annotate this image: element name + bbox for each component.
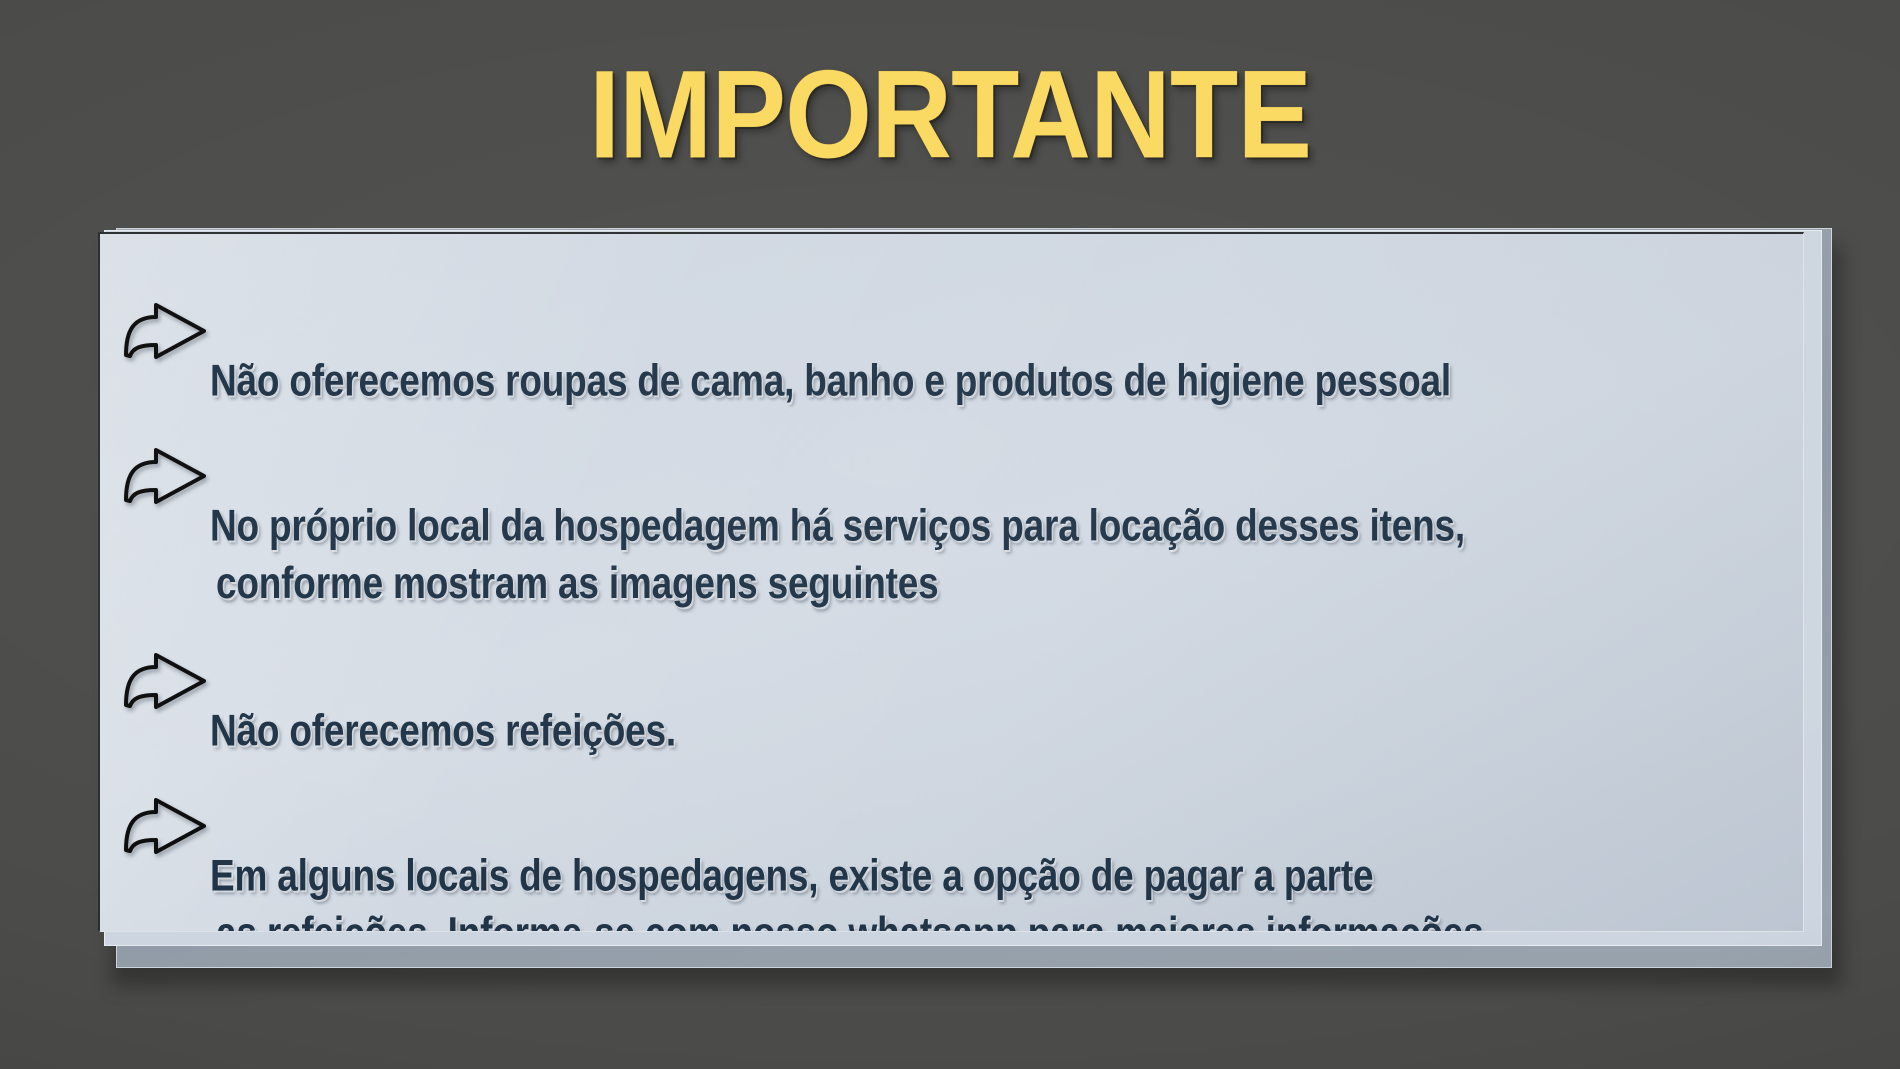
list-item-text: Não oferecemos refeições. (210, 646, 1793, 760)
right-block-arrow-icon (122, 300, 208, 362)
content-panel-stack: Não oferecemos roupas de cama, banho e p… (98, 232, 1828, 972)
list-item: Não oferecemos roupas de cama, banho e p… (122, 296, 1793, 391)
right-block-arrow-icon (122, 795, 208, 857)
page-title: IMPORTANTE (589, 52, 1311, 177)
list-item: Em alguns locais de hospedagens, existe … (122, 791, 1793, 932)
list-item-line-1: Não oferecemos refeições. (210, 707, 676, 756)
list-item-line-2: as refeições. Informe-se com nosso whats… (210, 905, 1793, 932)
list-item-text: No próprio local da hospedagem há serviç… (210, 441, 1793, 668)
right-block-arrow-icon (122, 650, 208, 712)
list-item-line-1: Em alguns locais de hospedagens, existe … (210, 851, 1373, 900)
title-container: IMPORTANTE (0, 52, 1900, 164)
list-item: Não oferecemos refeições. (122, 646, 1793, 741)
list-item: No próprio local da hospedagem há serviç… (122, 441, 1793, 630)
list-item-text: Não oferecemos roupas de cama, banho e p… (210, 296, 1793, 410)
list-item-line-1: No próprio local da hospedagem há serviç… (210, 501, 1465, 550)
right-block-arrow-icon (122, 445, 208, 507)
bullet-list: Não oferecemos roupas de cama, banho e p… (122, 296, 1793, 932)
list-item-line-1: Não oferecemos roupas de cama, banho e p… (210, 356, 1451, 405)
list-item-text: Em alguns locais de hospedagens, existe … (210, 791, 1793, 932)
list-item-line-2: conforme mostram as imagens seguintes (210, 554, 1793, 611)
content-panel: Não oferecemos roupas de cama, banho e p… (98, 232, 1804, 932)
